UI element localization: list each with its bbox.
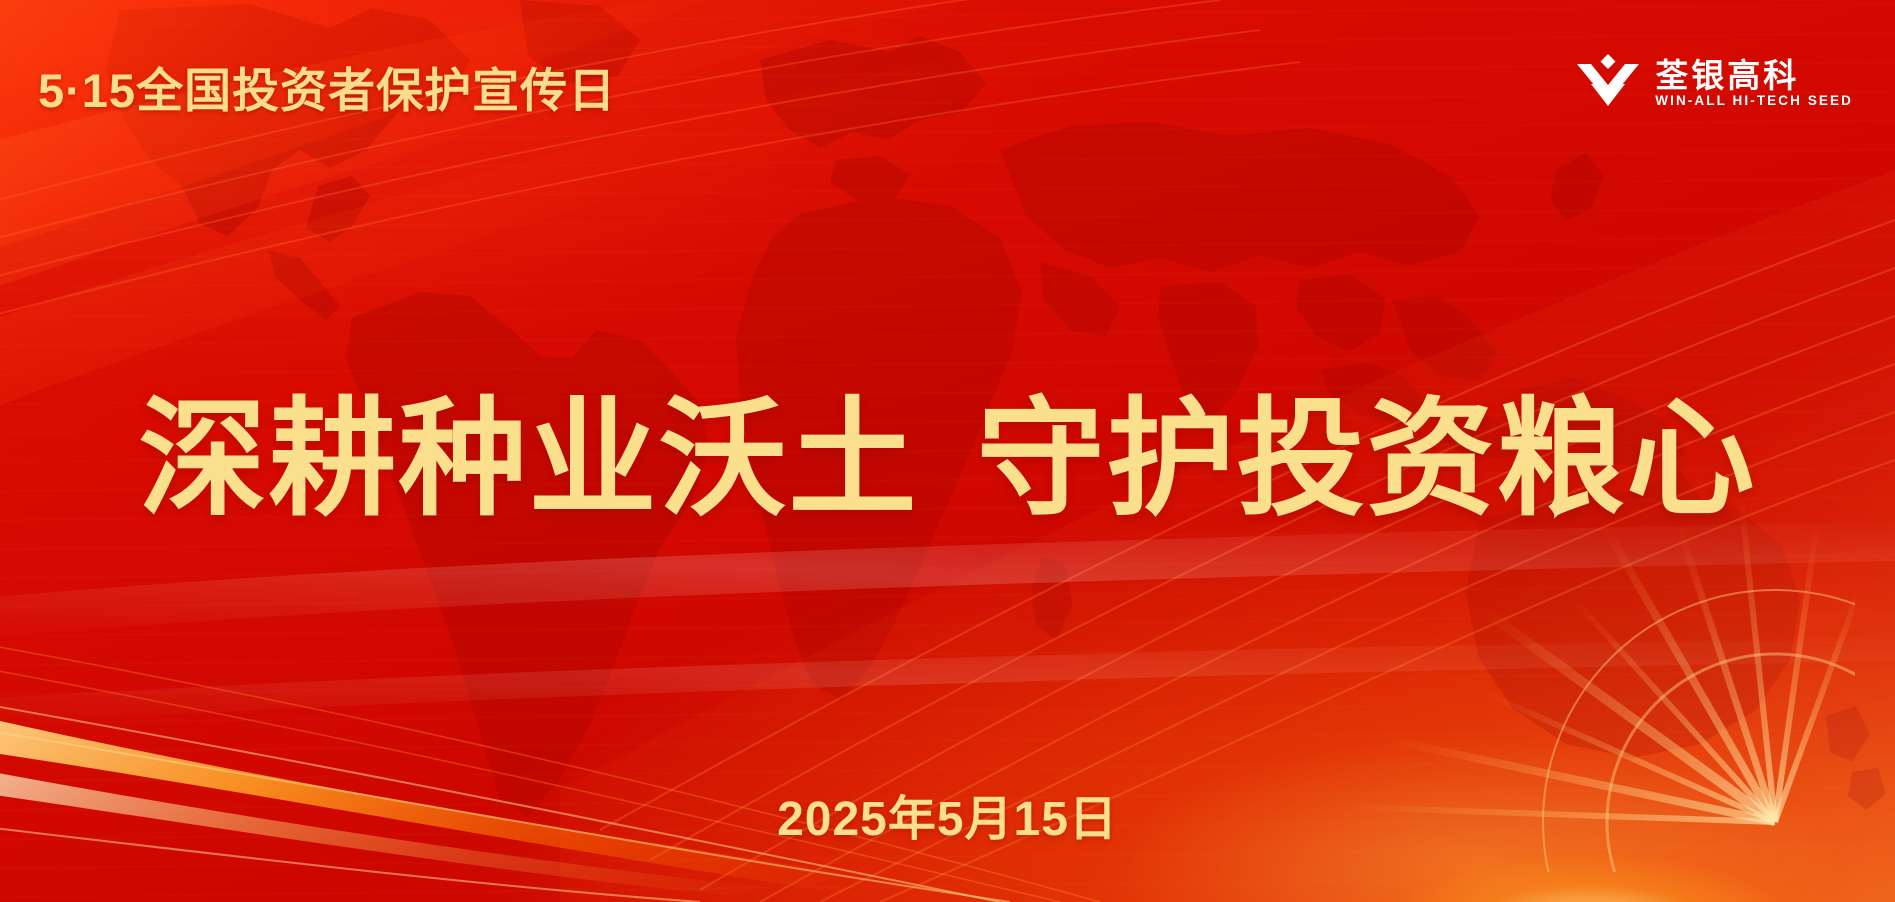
main-headline: 深耕种业沃土守护投资粮心 [0,396,1895,524]
headline-part-left: 深耕种业沃土 [138,388,918,531]
campaign-eyebrow-title: 5·15全国投资者保护宣传日 [38,52,616,121]
investor-protection-banner: 5·15全国投资者保护宣传日 荃银高科 WIN-ALL HI-TECH SEED… [0,0,1895,902]
event-date: 2025年5月15日 [0,796,1895,844]
logo-company-name-cn: 荃银高科 [1655,59,1853,92]
headline-part-right: 守护投资粮心 [977,388,1757,531]
logo-text-block: 荃银高科 WIN-ALL HI-TECH SEED [1655,59,1853,108]
logo-company-name-en: WIN-ALL HI-TECH SEED [1655,94,1853,108]
chevron-v-logo-icon [1577,54,1639,112]
company-logo: 荃银高科 WIN-ALL HI-TECH SEED [1577,54,1853,112]
